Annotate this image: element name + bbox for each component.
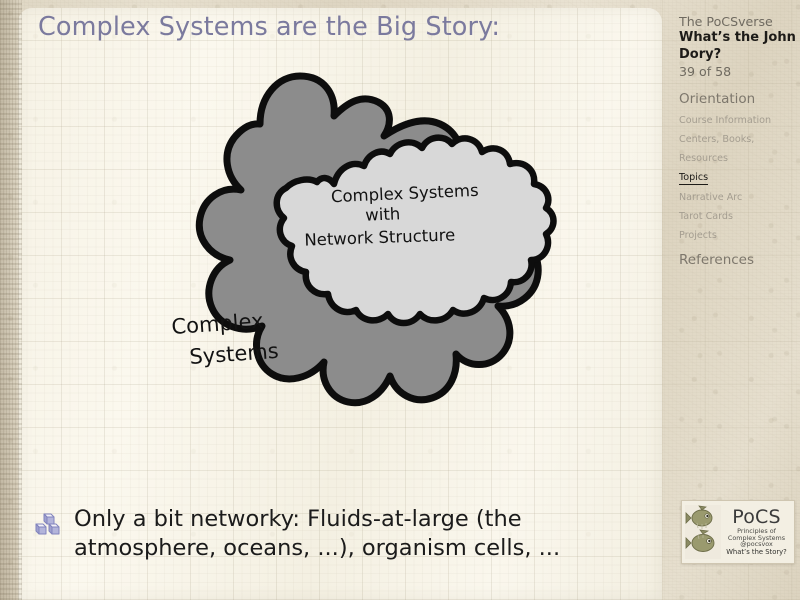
slide-canvas: Complex Systems are the Big Story: Compl… [0,0,800,600]
sidebar-item-projects: Projects [679,223,797,242]
logo-text-block: PoCS Principles of Complex Systems @pocs… [721,508,794,556]
logo-handle: @pocsvox [721,541,792,548]
logo-tagline: What’s the Story? [721,549,792,556]
sidebar-item-narrative-arc: Narrative Arc [679,185,797,204]
page-title: Complex Systems are the Big Story: [38,12,638,42]
sidebar-item-label[interactable]: Course Information [679,115,771,126]
sidebar-item-label[interactable]: Projects [679,230,717,241]
fish-icon [685,505,721,559]
sidebar-talk-title-line1: What’s the John [679,30,797,47]
sidebar-item-label[interactable]: Centers, Books, Resources [679,134,754,164]
sidebar-item-topics: Topics [679,165,797,186]
sidebar-item-label[interactable]: Tarot Cards [679,211,733,222]
sidebar-section-orientation[interactable]: Orientation [679,91,797,108]
sidebar-item-label[interactable]: Topics [679,172,708,186]
cubes-icon [34,513,62,541]
logo-title: PoCS [721,508,792,528]
complex-systems-blob-diagram: Complex Systems with Network Structure C… [110,72,580,462]
sidebar-item-label[interactable]: Narrative Arc [679,192,742,203]
bullet-row: Only a bit networky: Fluids-at-large (th… [34,505,634,564]
sidebar-item-centers-books-resources: Centers, Books, Resources [679,127,797,165]
sidebar-pocsverse-link[interactable]: The PoCSverse [679,14,797,30]
pocs-logo-box[interactable]: PoCS Principles of Complex Systems @pocs… [681,500,795,564]
sidebar-section-references[interactable]: References [679,252,797,269]
sidebar-slide-count: 39 of 58 [679,64,797,80]
sidebar: The PoCSverse What’s the John Dory? 39 o… [679,14,797,269]
sidebar-item-course-information: Course Information [679,108,797,127]
outer-blob-label-line1: Complex [171,309,265,339]
left-edge-strip [0,0,22,600]
bullet-text-line1: Only a bit networky: Fluids-at-large (th… [74,506,522,532]
bullet-text: Only a bit networky: Fluids-at-large (th… [74,505,560,564]
inner-blob-label-line2: with [365,204,401,225]
bullet-text-line2: atmosphere, oceans, ...), organism cells… [74,535,560,561]
sidebar-item-tarot-cards: Tarot Cards [679,204,797,223]
sidebar-talk-title-line2: Dory? [679,47,797,64]
